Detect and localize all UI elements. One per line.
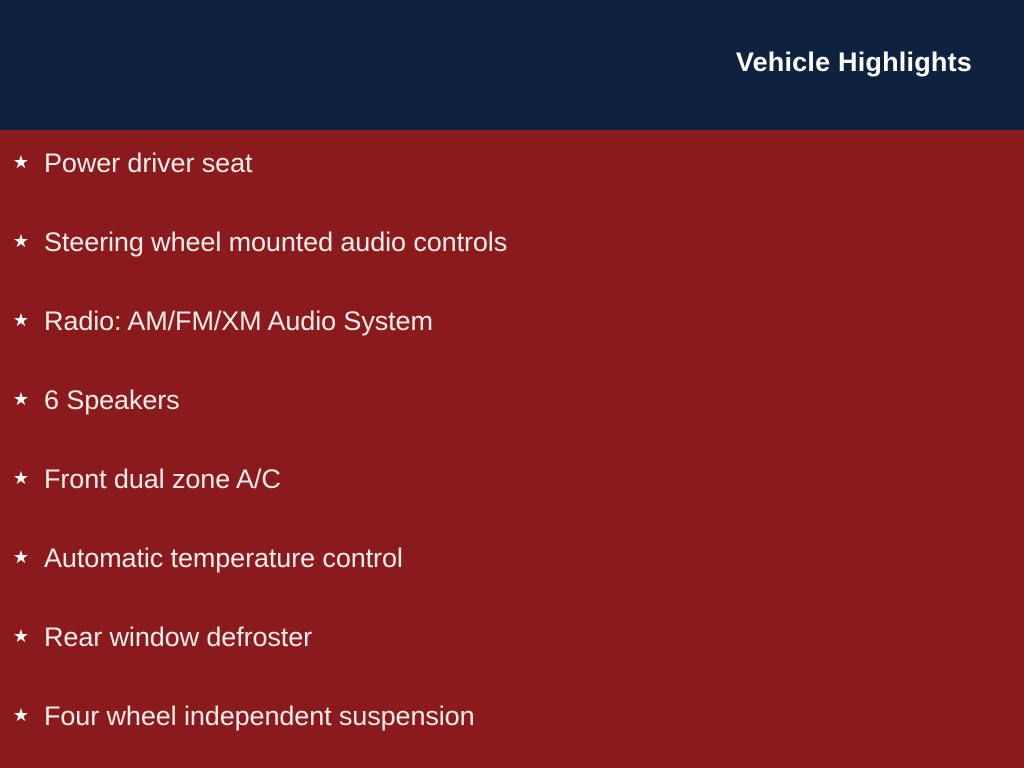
star-icon: ★ — [12, 301, 30, 341]
list-item: ★ Four wheel independent suspension — [12, 696, 475, 736]
feature-label: Automatic temperature control — [44, 538, 403, 578]
slide-header: Vehicle Highlights — [0, 0, 1024, 130]
list-item: ★ Automatic temperature control — [12, 538, 403, 578]
page-title: Vehicle Highlights — [736, 45, 972, 79]
list-item: ★ Rear window defroster — [12, 617, 312, 657]
star-icon: ★ — [12, 617, 30, 657]
star-icon: ★ — [12, 380, 30, 420]
star-icon: ★ — [12, 538, 30, 578]
slide-body: ★ Power driver seat ★ Steering wheel mou… — [0, 130, 1024, 768]
feature-label: Rear window defroster — [44, 617, 312, 657]
feature-label: Front dual zone A/C — [44, 459, 281, 499]
feature-label: 6 Speakers — [44, 380, 180, 420]
star-icon: ★ — [12, 696, 30, 736]
list-item: ★ Steering wheel mounted audio controls — [12, 222, 507, 262]
list-item: ★ Radio: AM/FM/XM Audio System — [12, 301, 433, 341]
star-icon: ★ — [12, 222, 30, 262]
list-item: ★ 6 Speakers — [12, 380, 180, 420]
list-item: ★ Front dual zone A/C — [12, 459, 281, 499]
feature-label: Four wheel independent suspension — [44, 696, 475, 736]
star-icon: ★ — [12, 459, 30, 499]
list-item: ★ Power driver seat — [12, 143, 252, 183]
star-icon: ★ — [12, 143, 30, 183]
feature-label: Power driver seat — [44, 143, 252, 183]
feature-label: Steering wheel mounted audio controls — [44, 222, 507, 262]
vehicle-highlights-slide: Vehicle Highlights ★ Power driver seat ★… — [0, 0, 1024, 768]
feature-label: Radio: AM/FM/XM Audio System — [44, 301, 433, 341]
